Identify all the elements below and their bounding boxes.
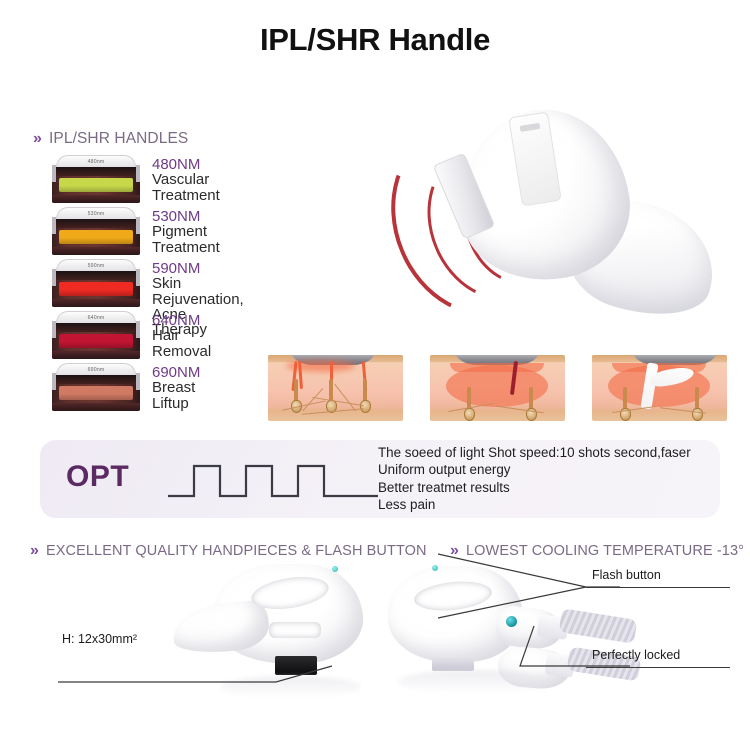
cartridge-edge-right [136, 165, 140, 182]
opt-feature-line: Uniform output energy [378, 461, 718, 478]
cartridge-body [52, 219, 140, 255]
follicle-bulb [464, 408, 475, 421]
opt-feature-list: The soeed of light Shot speed:10 shots s… [378, 444, 718, 514]
cartridge-body [52, 167, 140, 203]
cartridge-foot [52, 195, 140, 203]
filter-treatment: Hair Removal [152, 328, 211, 359]
cartridge-edge-right [136, 373, 140, 390]
cartridge-crystal-bar [59, 386, 133, 400]
opt-feature-line: Less pain [378, 496, 718, 513]
capillary [496, 406, 544, 414]
filter-wavelength: 530NM [152, 209, 220, 224]
opt-logo: OPT [66, 460, 129, 494]
section-header-handpieces: » EXCELLENT QUALITY HANDPIECES & FLASH B… [30, 543, 427, 559]
filter-cartridge-690: 690nm [52, 363, 140, 411]
opt-feature-line: Better treatmet results [378, 479, 718, 496]
flash-button-leader-line [420, 548, 620, 628]
cartridge-crystal-bar [59, 282, 133, 296]
filter-wavelength: 690NM [152, 365, 200, 380]
cartridge-edge-right [136, 217, 140, 234]
filter-wavelength: 590NM [152, 261, 244, 276]
slot-detail [520, 123, 541, 132]
cartridge-foot [52, 403, 140, 411]
light-glow [450, 363, 544, 372]
cartridge-foot [52, 299, 140, 307]
handpiece-photo-group: H: 12x30mm² Flash button Perfectl [0, 560, 750, 750]
hair-follicle [464, 387, 474, 421]
cartridge-top-shadow [52, 167, 140, 176]
cartridge-crystal-bar [59, 178, 133, 192]
cartridge-body [52, 375, 140, 411]
skin-diagram-stage-1 [268, 355, 403, 421]
cartridge-crystal-bar [59, 230, 133, 244]
cartridge-cap-label: 480nm [88, 159, 105, 165]
handpiece-front-detail [269, 622, 321, 638]
flash-button-icon [332, 566, 338, 572]
cartridge-cap-label: 590nm [88, 263, 105, 269]
spot-size-label: H: 12x30mm² [62, 632, 137, 646]
cartridge-edge-right [136, 321, 140, 338]
page-title: IPL/SHR Handle [0, 22, 750, 58]
cartridge-edge-left [52, 165, 56, 182]
cartridge-cap-label: 530nm [88, 211, 105, 217]
section-header-handles: » IPL/SHR HANDLES [33, 130, 188, 148]
opt-feature-line: The soeed of light Shot speed:10 shots s… [378, 444, 718, 461]
filter-text: 690NM Breast Liftup [152, 365, 200, 411]
cartridge-foot [52, 351, 140, 359]
cartridge-edge-right [136, 269, 140, 286]
filter-treatment: Breast Liftup [152, 380, 200, 411]
capillary [334, 384, 356, 412]
filter-wavelength: 480NM [152, 157, 220, 172]
filter-text: 640NM Hair Removal [152, 313, 211, 359]
cartridge-cap-label: 640nm [88, 315, 105, 321]
hair-follicle [692, 387, 702, 421]
filter-treatment: Pigment Treatment [152, 224, 220, 255]
filter-treatment: Vascular Treatment [152, 172, 220, 203]
cartridge-edge-left [52, 217, 56, 234]
filter-cartridge-480: 480nm [52, 155, 140, 203]
cartridge-foot [52, 247, 140, 255]
section-header-handpieces-label: EXCELLENT QUALITY HANDPIECES & FLASH BUT… [46, 543, 427, 559]
chevron-right-icon: » [33, 131, 42, 147]
hair-follicle [620, 387, 630, 421]
poster-page: IPL/SHR Handle » IPL/SHR HANDLES 480nm 4… [0, 0, 750, 750]
hair-follicle [526, 387, 536, 421]
square-wave-graphic [168, 456, 378, 504]
spot-size-leader-line [56, 650, 306, 686]
filter-cartridge-590: 590nm [52, 259, 140, 307]
cartridge-edge-left [52, 373, 56, 390]
cartridge-top-shadow [52, 375, 140, 384]
skin-diagram-stage-3 [592, 355, 727, 421]
opt-panel: OPT The soeed of light Shot speed:10 sho… [40, 440, 720, 518]
follicle-bulb [692, 408, 703, 421]
skin-diagram-stage-2 [430, 355, 565, 421]
cartridge-edge-left [52, 269, 56, 286]
chevron-right-icon: » [30, 543, 39, 559]
filter-text: 480NM Vascular Treatment [152, 157, 220, 203]
cartridge-top-shadow [52, 271, 140, 280]
cartridge-crystal-bar [59, 334, 133, 348]
cartridge-body [52, 271, 140, 307]
skin-diagram-group [268, 347, 728, 427]
filter-text: 530NM Pigment Treatment [152, 209, 220, 255]
handpiece-hero-image [390, 108, 750, 353]
cartridge-edge-left [52, 321, 56, 338]
cartridge-top-shadow [52, 323, 140, 332]
follicle-bulb [360, 400, 371, 413]
cartridge-cap-label: 690nm [88, 367, 105, 373]
section-header-handles-label: IPL/SHR HANDLES [49, 130, 188, 148]
filter-cartridge-530: 530nm [52, 207, 140, 255]
filter-wavelength: 640NM [152, 313, 211, 328]
cartridge-top-shadow [52, 219, 140, 228]
filter-cartridge-640: 640nm [52, 311, 140, 359]
capillary [612, 406, 656, 414]
perfectly-locked-leader-line [510, 624, 630, 680]
cartridge-body [52, 323, 140, 359]
